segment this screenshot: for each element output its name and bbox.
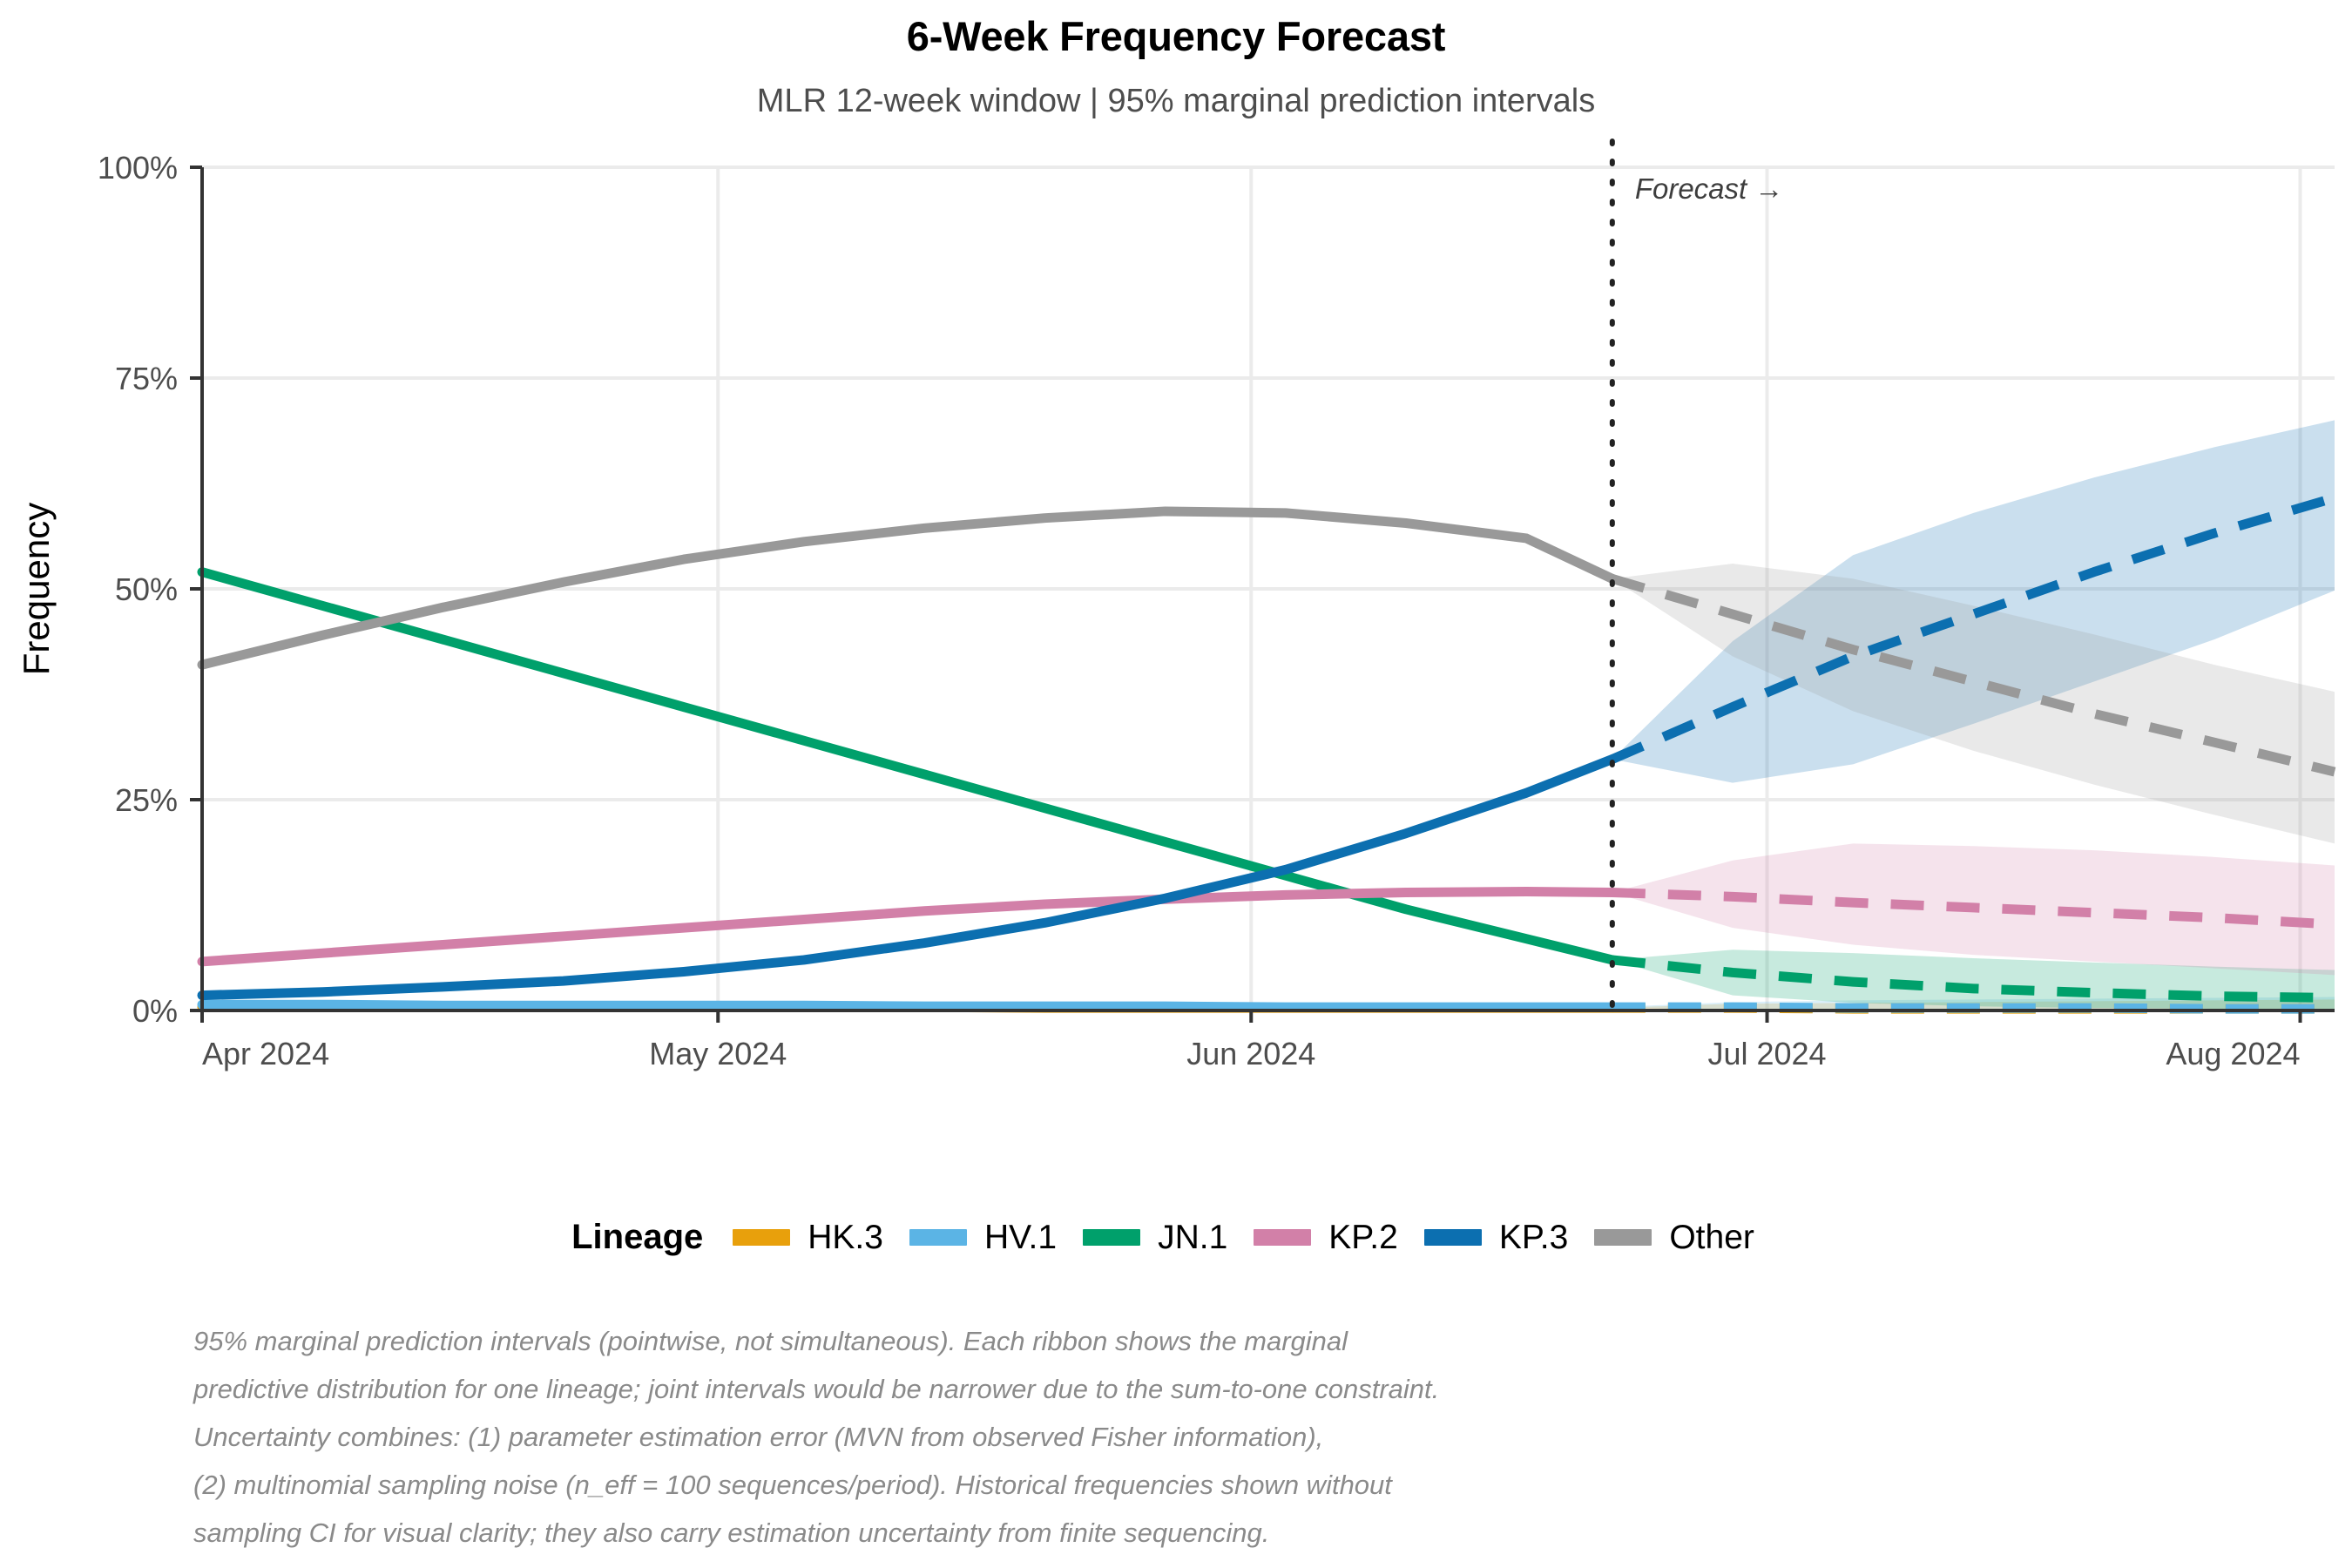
- chart-caption: 95% marginal prediction intervals (point…: [193, 1317, 2110, 1557]
- legend-swatch-icon: [909, 1229, 967, 1246]
- legend-item-label: Other: [1669, 1219, 1754, 1257]
- legend-item-hk-3[interactable]: HK.3: [733, 1219, 883, 1257]
- legend-swatch-icon: [1594, 1229, 1652, 1246]
- y-tick-label: 50%: [115, 571, 178, 607]
- frequency-forecast-svg: Forecast →0%25%50%75%100%Apr 2024May 202…: [0, 131, 2352, 1159]
- caption-line: predictive distribution for one lineage;…: [193, 1365, 2110, 1413]
- x-tick-label: Jul 2024: [1707, 1036, 1826, 1071]
- caption-line: sampling CI for visual clarity; they als…: [193, 1509, 2110, 1557]
- y-tick-label: 75%: [115, 361, 178, 396]
- x-tick-label: Jun 2024: [1186, 1036, 1315, 1071]
- legend-item-kp-2[interactable]: KP.2: [1254, 1219, 1398, 1257]
- legend-item-label: KP.3: [1499, 1219, 1569, 1257]
- chart-page: 6-Week Frequency Forecast MLR 12-week wi…: [0, 0, 2352, 1568]
- legend-item-hv-1[interactable]: HV.1: [909, 1219, 1057, 1257]
- x-tick-label: Apr 2024: [202, 1036, 329, 1071]
- legend-item-label: KP.2: [1328, 1219, 1398, 1257]
- x-tick-label: Aug 2024: [2166, 1036, 2300, 1071]
- legend-item-jn-1[interactable]: JN.1: [1083, 1219, 1227, 1257]
- y-axis-title: Frequency: [16, 503, 57, 675]
- forecast-divider-label: Forecast →: [1635, 172, 1784, 205]
- legend-swatch-icon: [1083, 1229, 1140, 1246]
- caption-line: 95% marginal prediction intervals (point…: [193, 1317, 2110, 1365]
- line-observed-kp-3: [202, 760, 1612, 996]
- legend-title: Lineage: [571, 1218, 703, 1257]
- y-tick-label: 25%: [115, 782, 178, 818]
- chart-legend: Lineage HK.3HV.1JN.1KP.2KP.3Other: [0, 1218, 2352, 1257]
- line-observed-hv-1: [202, 1004, 1612, 1007]
- legend-item-label: JN.1: [1158, 1219, 1227, 1257]
- line-observed-jn-1: [202, 572, 1612, 960]
- line-observed-kp-2: [202, 892, 1612, 962]
- page-subtitle: MLR 12-week window | 95% marginal predic…: [0, 83, 2352, 120]
- y-tick-label: 0%: [132, 993, 178, 1029]
- legend-item-kp-3[interactable]: KP.3: [1424, 1219, 1569, 1257]
- caption-line: Uncertainty combines: (1) parameter esti…: [193, 1413, 2110, 1461]
- legend-item-label: HV.1: [984, 1219, 1057, 1257]
- chart-plot-area: Forecast →0%25%50%75%100%Apr 2024May 202…: [0, 131, 2352, 1159]
- legend-item-label: HK.3: [808, 1219, 883, 1257]
- caption-line: (2) multinomial sampling noise (n_eff = …: [193, 1461, 2110, 1509]
- legend-item-other[interactable]: Other: [1594, 1219, 1754, 1257]
- y-tick-label: 100%: [98, 150, 178, 186]
- legend-swatch-icon: [733, 1229, 790, 1246]
- page-title: 6-Week Frequency Forecast: [0, 12, 2352, 60]
- x-tick-label: May 2024: [649, 1036, 787, 1071]
- legend-swatch-icon: [1254, 1229, 1311, 1246]
- legend-swatch-icon: [1424, 1229, 1482, 1246]
